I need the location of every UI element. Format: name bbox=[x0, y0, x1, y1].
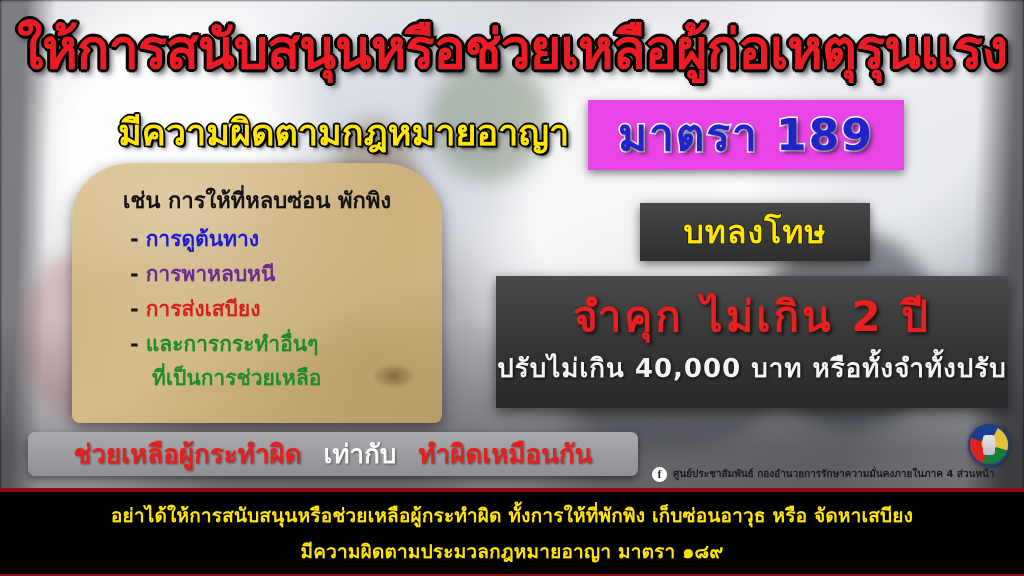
bullet-dash: - bbox=[130, 297, 139, 321]
examples-paper-panel: เช่น การให้ที่หลบซ่อน พักพิง -การดูต้นทา… bbox=[72, 163, 442, 423]
credit-text: ศูนย์ประชาสัมพันธ์ กองอำนวยการรักษาความม… bbox=[673, 467, 995, 482]
poster-root: ให้การสนับสนุนหรือช่วยเหลือผู้ก่อเหตุรุน… bbox=[0, 0, 1024, 576]
list-item-label: การดูต้นทาง bbox=[146, 227, 259, 251]
penalty-detail-box: จำคุก ไม่เกิน 2 ปี ปรับไม่เกิน 40,000 บา… bbox=[496, 276, 1008, 408]
penalty-imprisonment-text: จำคุก ไม่เกิน 2 ปี bbox=[573, 295, 931, 339]
organization-emblem-icon bbox=[968, 424, 1010, 466]
paper-stain bbox=[372, 363, 416, 389]
penalty-fine-text: ปรับไม่เกิน 40,000 บาท หรือทั้งจำทั้งปรั… bbox=[497, 348, 1007, 389]
list-item: -การพาหลบหนี bbox=[130, 263, 432, 285]
facebook-icon: f bbox=[652, 467, 667, 482]
list-item: -การดูต้นทาง bbox=[130, 228, 432, 250]
list-item: -และการกระทำอื่นๆ bbox=[130, 333, 432, 355]
headline-band: ให้การสนับสนุนหรือช่วยเหลือผู้ก่อเหตุรุน… bbox=[0, 8, 1024, 92]
bullet-dash: - bbox=[130, 227, 139, 251]
examples-heading: เช่น การให้ที่หลบซ่อน พักพิง bbox=[82, 183, 432, 218]
bottom-message-bar: อย่าได้ให้การสนับสนุนหรือช่วยเหลือผู้กระ… bbox=[0, 490, 1024, 576]
equation-middle-text: เท่ากับ bbox=[324, 434, 397, 475]
equation-right-text: ทำผิดเหมือนกัน bbox=[418, 434, 592, 475]
poster-headline: ให้การสนับสนุนหรือช่วยเหลือผู้ก่อเหตุรุน… bbox=[17, 23, 1007, 77]
article-number-text: มาตรา 189 bbox=[618, 100, 874, 170]
penalty-title-box: บทลงโทษ bbox=[640, 203, 870, 261]
list-item-label: และการกระทำอื่นๆ bbox=[146, 332, 319, 356]
equation-left-text: ช่วยเหลือผู้กระทำผิด bbox=[74, 434, 302, 475]
article-number-box: มาตรา 189 bbox=[588, 100, 904, 170]
list-item-label: การพาหลบหนี bbox=[146, 262, 276, 286]
bullet-dash: - bbox=[130, 262, 139, 286]
equation-strip: ช่วยเหลือผู้กระทำผิด เท่ากับ ทำผิดเหมือน… bbox=[28, 432, 638, 476]
bottom-line-1: อย่าได้ให้การสนับสนุนหรือช่วยเหลือผู้กระ… bbox=[111, 501, 913, 531]
list-item: -การส่งเสบียง bbox=[130, 298, 432, 320]
credit-line: f ศูนย์ประชาสัมพันธ์ กองอำนวยการรักษาควา… bbox=[652, 464, 995, 484]
poster-subline: มีความผิดตามกฎหมายอาญา bbox=[118, 104, 569, 161]
penalty-title-text: บทลงโทษ bbox=[683, 207, 826, 258]
bullet-dash: - bbox=[130, 332, 139, 356]
list-item-label: การส่งเสบียง bbox=[146, 297, 261, 321]
bottom-line-2: มีความผิดตามประมวลกฎหมายอาญา มาตรา ๑๘๙ bbox=[301, 537, 724, 567]
